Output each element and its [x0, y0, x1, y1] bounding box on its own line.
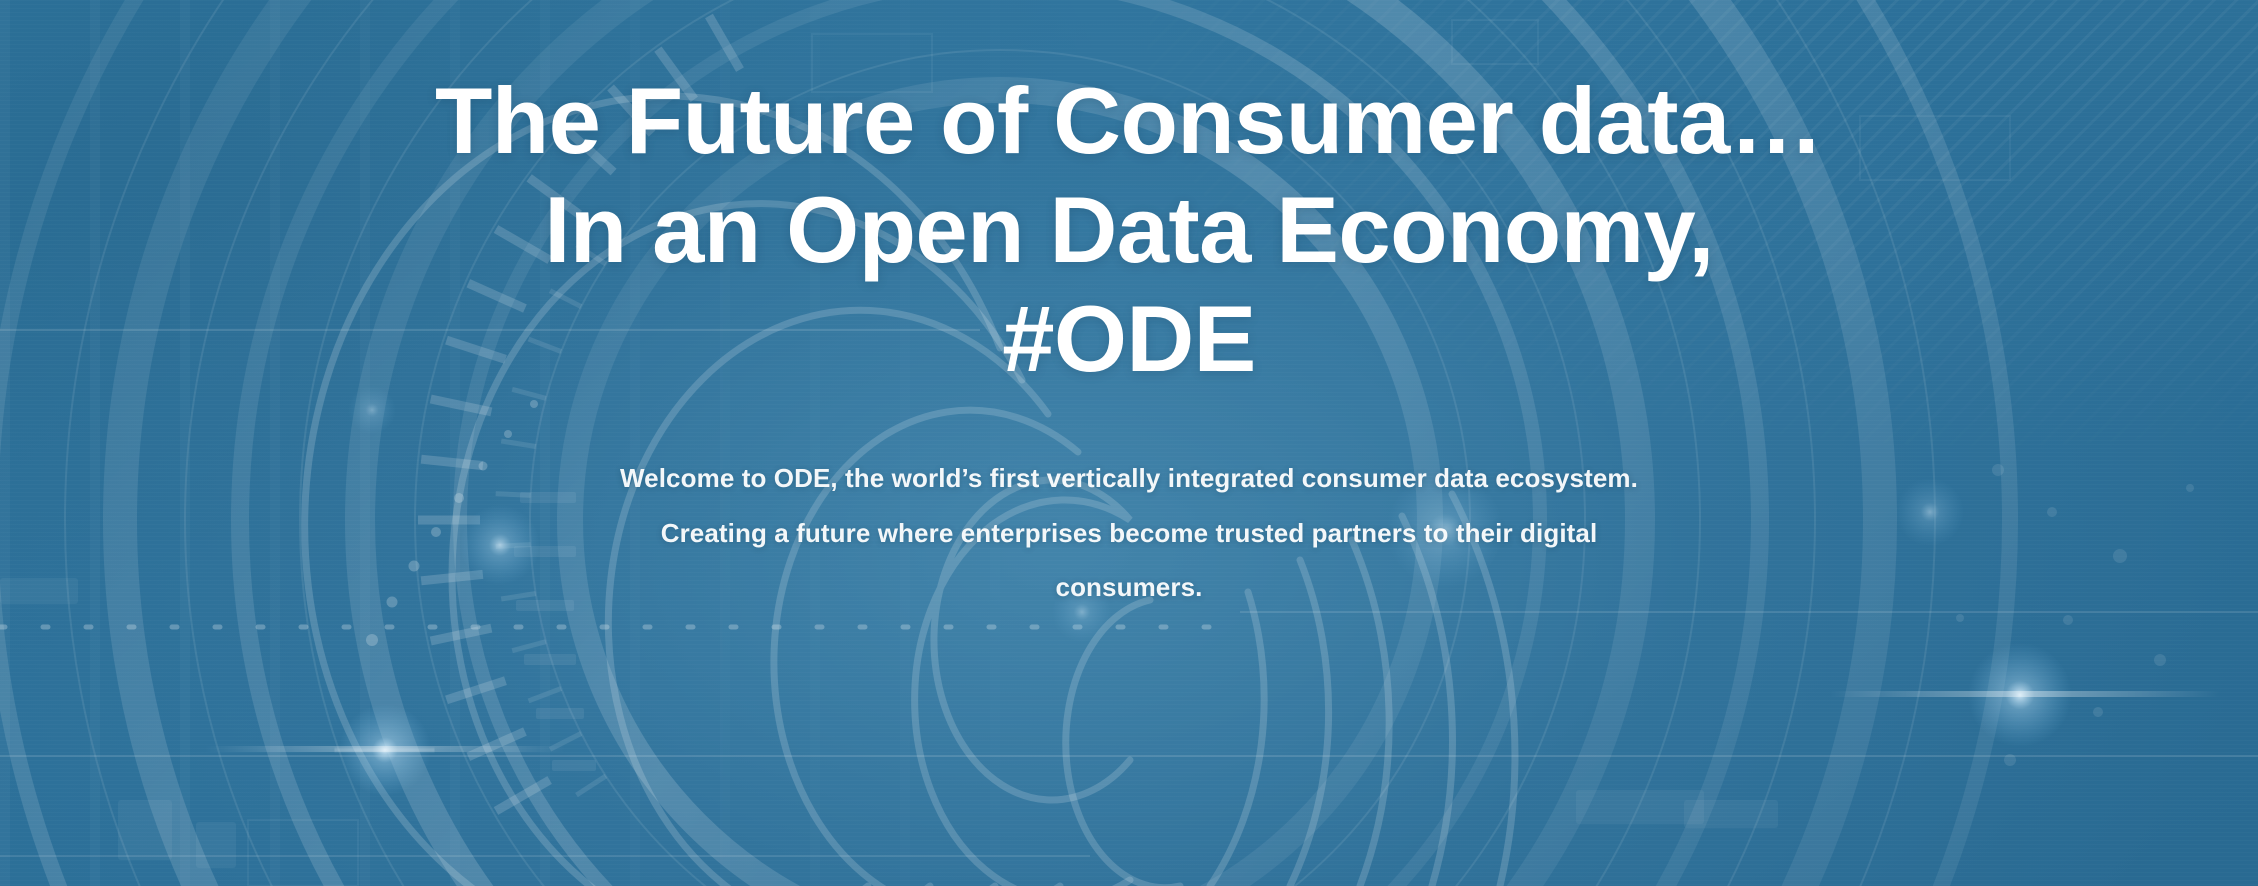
headline-line-3-hashtag: #ODE	[435, 284, 1823, 393]
hero-banner: The Future of Consumer data… In an Open …	[0, 0, 2258, 886]
hero-content: The Future of Consumer data… In an Open …	[0, 0, 2258, 886]
headline-line-1: The Future of Consumer data…	[435, 66, 1823, 175]
hero-headline: The Future of Consumer data… In an Open …	[435, 66, 1823, 393]
subcopy-line-2: Creating a future where enterprises beco…	[620, 506, 1638, 561]
hero-subcopy: Welcome to ODE, the world’s first vertic…	[620, 451, 1638, 615]
headline-line-2: In an Open Data Economy,	[435, 175, 1823, 284]
subcopy-line-3: consumers.	[620, 560, 1638, 615]
subcopy-line-1: Welcome to ODE, the world’s first vertic…	[620, 451, 1638, 506]
